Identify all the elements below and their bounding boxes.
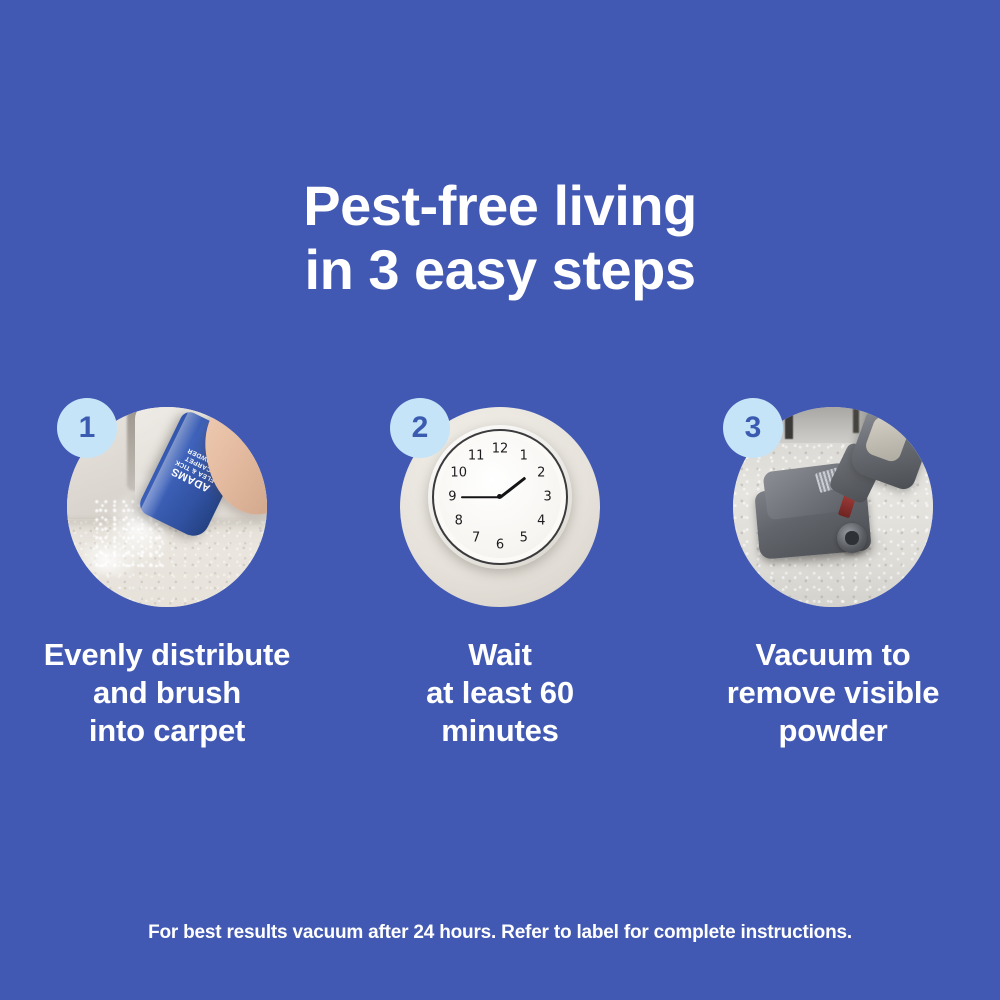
footer-disclaimer: For best results vacuum after 24 hours. … — [0, 922, 1000, 944]
step-1: ADAMS FLEA & TICK CARPET POWDER 1 — [1, 398, 334, 750]
clock-numeral-4: 4 — [537, 513, 545, 528]
step-3: 3 Vacuum to remove visible powder — [667, 398, 1000, 750]
furniture-leg — [853, 407, 859, 433]
clock-center-pin — [497, 494, 502, 499]
clock-bezel: 121234567891011 — [432, 429, 569, 566]
step-1-media: ADAMS FLEA & TICK CARPET POWDER 1 — [57, 398, 277, 608]
page-title: Pest-free living in 3 easy steps — [0, 174, 1000, 302]
finger — [254, 422, 267, 447]
clock-numeral-10: 10 — [450, 466, 467, 481]
clock-numeral-2: 2 — [537, 466, 545, 481]
vacuum-wheel — [837, 523, 867, 553]
clock-numeral-3: 3 — [543, 489, 551, 504]
step-3-caption-line-2: remove visible — [727, 674, 940, 712]
clock-numeral-11: 11 — [468, 448, 485, 463]
clock-numeral-7: 7 — [472, 531, 480, 546]
clock-numeral-1: 1 — [520, 448, 528, 463]
step-3-number-badge: 3 — [723, 398, 783, 458]
step-2-media: 121234567891011 2 — [390, 398, 610, 608]
clock-numeral-9: 9 — [448, 489, 456, 504]
clock-hour-hand — [499, 476, 526, 498]
step-3-caption-line-1: Vacuum to — [727, 636, 940, 674]
clock-rim: 121234567891011 — [428, 425, 572, 569]
step-1-caption-line-3: into carpet — [44, 712, 290, 750]
steps-row: ADAMS FLEA & TICK CARPET POWDER 1 — [0, 398, 1000, 750]
step-1-caption: Evenly distribute and brush into carpet — [44, 636, 290, 750]
step-1-number-badge: 1 — [57, 398, 117, 458]
step-2-caption: Wait at least 60 minutes — [426, 636, 574, 750]
step-2-caption-line-2: at least 60 — [426, 674, 574, 712]
infographic-page: Pest-free living in 3 easy steps — [0, 0, 1000, 1000]
step-1-caption-line-2: and brush — [44, 674, 290, 712]
clock-numeral-5: 5 — [520, 531, 528, 546]
step-3-caption: Vacuum to remove visible powder — [727, 636, 940, 750]
step-2-caption-line-3: minutes — [426, 712, 574, 750]
step-1-caption-line-1: Evenly distribute — [44, 636, 290, 674]
furniture-leg — [785, 407, 793, 439]
step-2-number-badge: 2 — [390, 398, 450, 458]
step-3-caption-line-3: powder — [727, 712, 940, 750]
step-2-caption-line-1: Wait — [426, 636, 574, 674]
clock-numeral-8: 8 — [455, 513, 463, 528]
headline-line-1: Pest-free living — [0, 174, 1000, 238]
step-3-media: 3 — [723, 398, 943, 608]
clock-minute-hand — [461, 496, 500, 498]
headline-line-2: in 3 easy steps — [0, 238, 1000, 302]
clock-numeral-6: 6 — [496, 537, 504, 552]
step-2: 121234567891011 2 Wait at least 60 minut… — [334, 398, 667, 750]
clock-face: 121234567891011 — [439, 436, 561, 558]
clock-numeral-12: 12 — [492, 442, 509, 457]
